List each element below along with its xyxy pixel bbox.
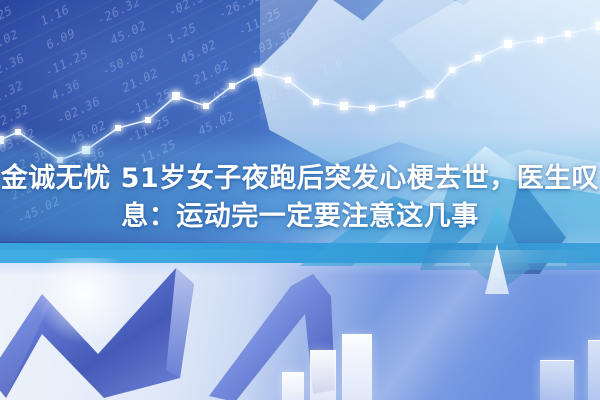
line-chart-node [475, 55, 481, 61]
line-chart-node [369, 105, 375, 111]
bar-chart-column [588, 340, 600, 400]
title-line-2: 息：运动完一定要注意这几事 [0, 198, 600, 236]
line-chart-node [449, 67, 455, 73]
title-line-1: 金诚无忧 51岁女子夜跑后突发心梗去世，医生叹 [0, 160, 600, 198]
line-chart-node [313, 99, 319, 105]
bar-chart-column [310, 350, 336, 400]
line-chart-node [340, 102, 348, 110]
poster-title: 金诚无忧 51岁女子夜跑后突发心梗去世，医生叹 息：运动完一定要注意这几事 [0, 160, 600, 236]
line-chart-node [596, 22, 600, 30]
line-chart-node [172, 92, 180, 100]
bar-chart-column [540, 360, 574, 400]
bar-chart-column [342, 334, 372, 400]
bar-chart-column [282, 372, 304, 400]
line-chart-node [565, 31, 571, 37]
line-chart-node [285, 77, 291, 83]
line-chart-node [399, 101, 405, 107]
line-chart-node [203, 103, 209, 109]
line-chart-node [504, 40, 512, 48]
news-poster: -02.3645.02-11.2521.02-03.362.25-03.36-1… [0, 0, 600, 400]
line-chart-node [229, 83, 235, 89]
line-chart-node [145, 117, 151, 123]
line-chart-node [426, 90, 434, 98]
line-chart-node [254, 68, 262, 76]
line-chart-node [537, 37, 543, 43]
